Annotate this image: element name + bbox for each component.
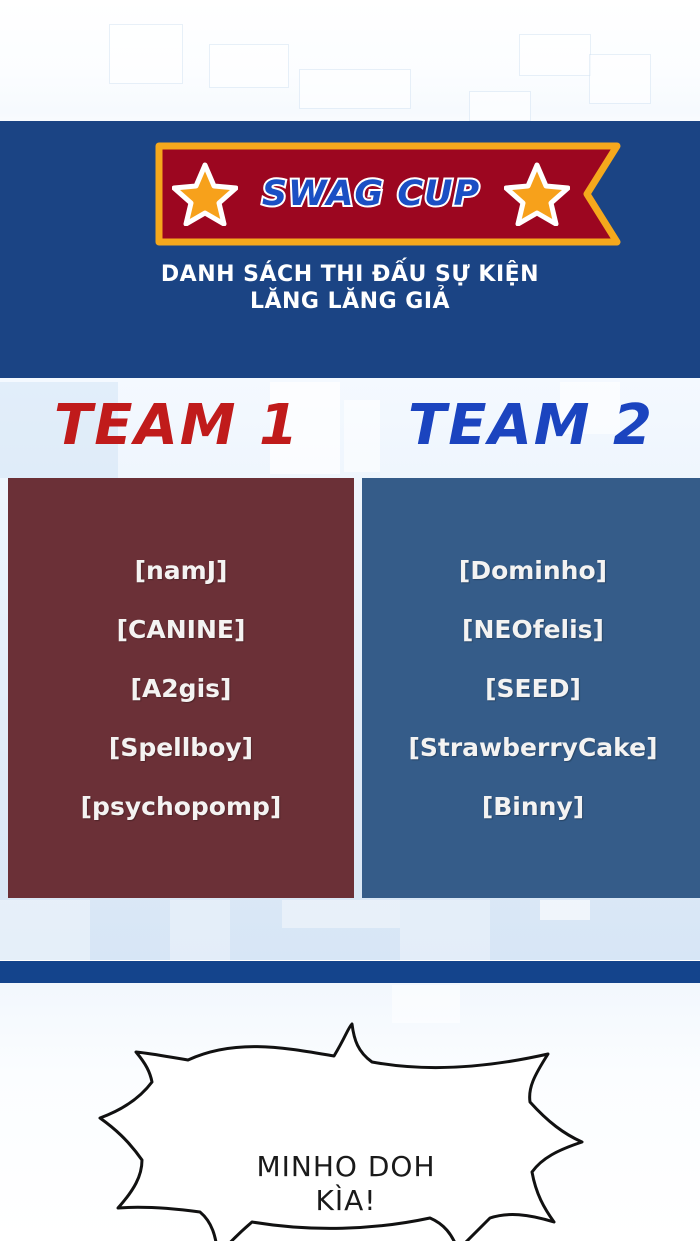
team-2-heading: TEAM 2 [362,390,700,462]
background-shape [520,35,590,75]
subtitle-line-2: LĂNG LĂNG GIẢ [0,288,700,315]
background-shape [470,92,530,120]
background-shape [210,45,288,87]
swag-cup-ribbon-banner: SWAG CUP [155,142,621,246]
team-1-member: [CANINE] [117,614,246,645]
team-2-roster-panel: [Dominho] [NEOfelis] [SEED] [StrawberryC… [362,478,700,898]
comic-panel-page: SWAG CUP DANH SÁCH THI ĐẤU SỰ KIỆN LĂNG … [0,0,700,1241]
panel-divider-bar [0,961,700,983]
background-shape [282,900,400,928]
speech-bubble: MINHO DOH KÌA! [96,1018,596,1241]
subtitle-line-1: DANH SÁCH THI ĐẤU SỰ KIỆN [0,261,700,288]
background-shape [170,900,230,962]
background-shape [0,900,90,962]
team-2-member: [SEED] [485,673,581,704]
team-1-member: [psychopomp] [81,791,282,822]
team-1-heading: TEAM 1 [0,390,354,462]
team-2-member: [Dominho] [459,555,607,586]
team-1-roster-panel: [namJ] [CANINE] [A2gis] [Spellboy] [psyc… [8,478,354,898]
team-1-member: [Spellboy] [109,732,253,763]
background-shape [400,900,490,962]
background-shape [300,70,410,108]
team-1-member: [A2gis] [131,673,232,704]
team-2-member: [Binny] [482,791,584,822]
team-1-member: [namJ] [135,555,228,586]
background-shape [110,25,182,83]
background-shape [590,55,650,103]
background-shape [540,900,590,920]
ribbon-shape [159,146,617,242]
event-subtitle: DANH SÁCH THI ĐẤU SỰ KIỆN LĂNG LĂNG GIẢ [0,261,700,315]
team-2-member: [StrawberryCake] [408,732,657,763]
team-2-member: [NEOfelis] [462,614,604,645]
team-headings: TEAM 1 TEAM 2 [0,390,700,470]
speech-bubble-outline [100,1024,582,1241]
